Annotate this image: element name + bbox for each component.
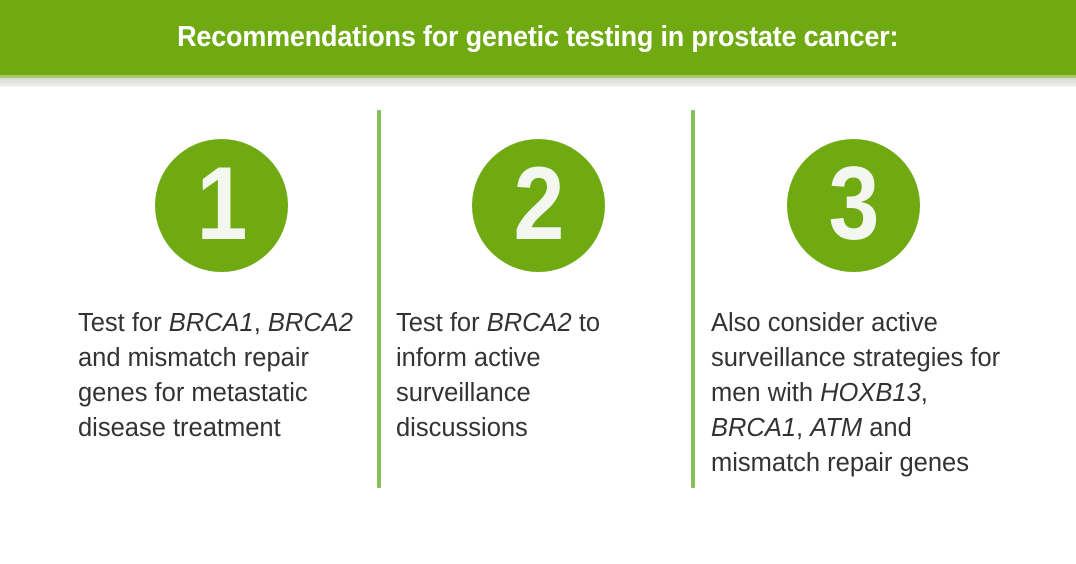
recommendation-item-3: 3 Also consider active surveillance stra… [711,87,1011,481]
infographic-root: Recommendations for genetic testing in p… [0,0,1076,564]
recommendation-item-1: 1 Test for BRCA1, BRCA2 and mismatch rep… [78,87,363,446]
header-shadow [0,78,1076,87]
step-badge-2: 2 [472,139,605,272]
step-badge-3: 3 [787,139,920,272]
recommendation-text-3: Also consider active surveillance strate… [711,306,1011,481]
step-number-2: 2 [513,152,564,256]
column-divider-1 [377,110,381,488]
recommendation-text-1: Test for BRCA1, BRCA2 and mismatch repai… [78,306,363,446]
header-band: Recommendations for genetic testing in p… [0,0,1076,75]
column-divider-2 [691,110,695,488]
recommendation-item-2: 2 Test for BRCA2 to inform active survei… [396,87,666,446]
step-number-1: 1 [196,152,247,256]
step-badge-1: 1 [155,139,288,272]
recommendation-columns: 1 Test for BRCA1, BRCA2 and mismatch rep… [0,87,1076,564]
step-number-3: 3 [828,152,879,256]
page-title: Recommendations for genetic testing in p… [168,23,908,52]
recommendation-text-2: Test for BRCA2 to inform active surveill… [396,306,666,446]
